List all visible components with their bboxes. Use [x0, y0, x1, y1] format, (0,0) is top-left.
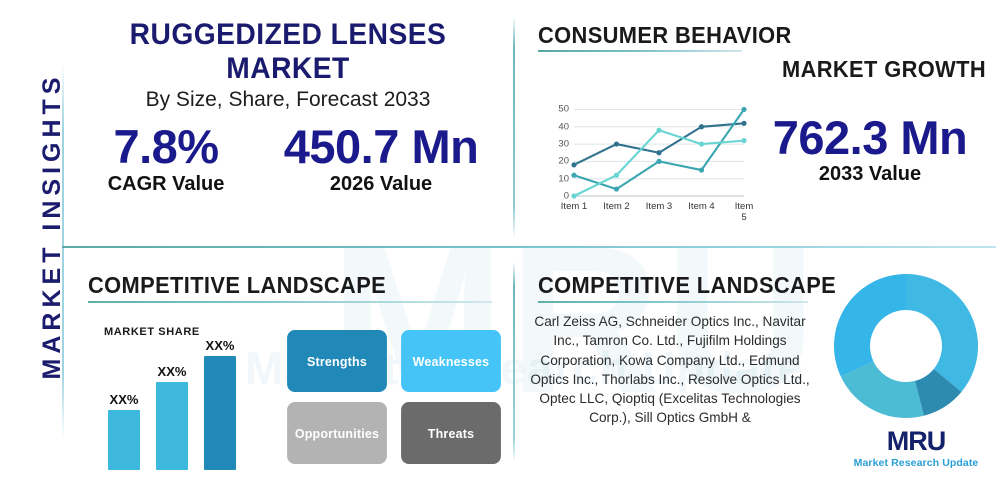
swot-box-weaknesses[interactable]: Weaknesses: [401, 330, 501, 392]
data-point: [699, 124, 704, 129]
stat-cagr-label: CAGR Value: [108, 173, 225, 196]
swot-box-opportunities[interactable]: Opportunities: [287, 402, 387, 464]
bar-value-label: XX%: [196, 338, 244, 353]
data-point: [614, 173, 619, 178]
growth-value: 762.3 Mn: [750, 110, 990, 165]
x-axis-tick-label: Item 3: [646, 201, 672, 212]
x-axis-tick-label: Item 1: [561, 201, 587, 212]
page-title: RUGGEDIZED LENSES MARKET: [91, 18, 486, 86]
section-title-competitive-landscape-right: COMPETITIVE LANDSCAPE: [538, 272, 836, 299]
y-axis-tick-label: 40: [548, 121, 569, 132]
section-underline-competitive-right: [538, 301, 808, 303]
infographic-canvas: MRU Market Research Update MARKET INSIGH…: [0, 0, 1000, 500]
data-point: [656, 128, 661, 133]
key-stats-row: 7.8% CAGR Value 450.7 Mn 2026 Value: [78, 122, 508, 196]
bar-value-label: XX%: [148, 364, 196, 379]
y-axis-tick-label: 10: [548, 173, 569, 184]
vertical-divider-bottom: [513, 262, 515, 462]
data-point: [656, 159, 661, 164]
market-share-donut-chart: [832, 272, 980, 420]
section-title-competitive-landscape-left: COMPETITIVE LANDSCAPE: [88, 272, 386, 299]
x-axis-tick-label: Item 5: [735, 201, 753, 223]
growth-label: 2033 Value: [750, 163, 990, 186]
y-axis-tick-label: 20: [548, 156, 569, 167]
donut-segment-1: [906, 274, 978, 392]
data-point: [741, 107, 746, 112]
bar: [204, 356, 236, 470]
stat-cagr-value: 7.8%: [108, 122, 225, 171]
market-share-label: MARKET SHARE: [104, 326, 200, 338]
data-point: [741, 121, 746, 126]
logo-wordmark: MRU: [846, 428, 986, 455]
horizontal-divider: [62, 246, 996, 248]
x-axis-tick-label: Item 2: [603, 201, 629, 212]
section-title-market-growth: MARKET GROWTH: [782, 56, 986, 83]
bar: [108, 410, 140, 470]
data-point: [614, 141, 619, 146]
line-series-2: [574, 109, 744, 189]
market-share-bar-chart: XX%XX%XX%: [104, 340, 254, 470]
stat-2026: 450.7 Mn 2026 Value: [284, 122, 479, 196]
stat-2026-value: 450.7 Mn: [284, 122, 479, 171]
donut-chart-svg: [832, 272, 980, 420]
data-point: [614, 186, 619, 191]
stat-cagr: 7.8% CAGR Value: [108, 122, 225, 196]
vertical-divider-top: [513, 16, 515, 238]
section-title-consumer-behavior: CONSUMER BEHAVIOR: [538, 22, 792, 49]
data-point: [741, 138, 746, 143]
stat-2026-label: 2026 Value: [284, 173, 479, 196]
data-point: [699, 141, 704, 146]
consumer-behavior-line-chart: 01020304050Item 1Item 2Item 3Item 4Item …: [548, 100, 748, 218]
brand-logo: MRU Market Research Update: [846, 428, 986, 469]
y-axis-tick-label: 0: [548, 191, 569, 202]
swot-box-threats[interactable]: Threats: [401, 402, 501, 464]
logo-tagline: Market Research Update: [846, 457, 986, 469]
page-subtitle: By Size, Share, Forecast 2033: [78, 88, 498, 112]
swot-grid: StrengthsWeaknessesOpportunitiesThreats: [285, 330, 503, 464]
section-underline-consumer-behavior: [538, 50, 742, 52]
section-underline-competitive-left: [88, 301, 492, 303]
bar: [156, 382, 188, 470]
data-point: [571, 173, 576, 178]
data-point: [571, 162, 576, 167]
company-list: Carl Zeiss AG, Schneider Optics Inc., Na…: [524, 312, 816, 428]
x-axis-tick-label: Item 4: [688, 201, 714, 212]
y-axis-tick-label: 30: [548, 139, 569, 150]
data-point: [699, 167, 704, 172]
vertical-brand-label: MARKET INSIGHTS: [32, 81, 72, 371]
donut-segment-4: [834, 274, 906, 377]
swot-box-strengths[interactable]: Strengths: [287, 330, 387, 392]
data-point: [571, 193, 576, 198]
bar-value-label: XX%: [100, 392, 148, 407]
y-axis-tick-label: 50: [548, 104, 569, 115]
vertical-rail-divider: [62, 62, 64, 440]
data-point: [656, 150, 661, 155]
